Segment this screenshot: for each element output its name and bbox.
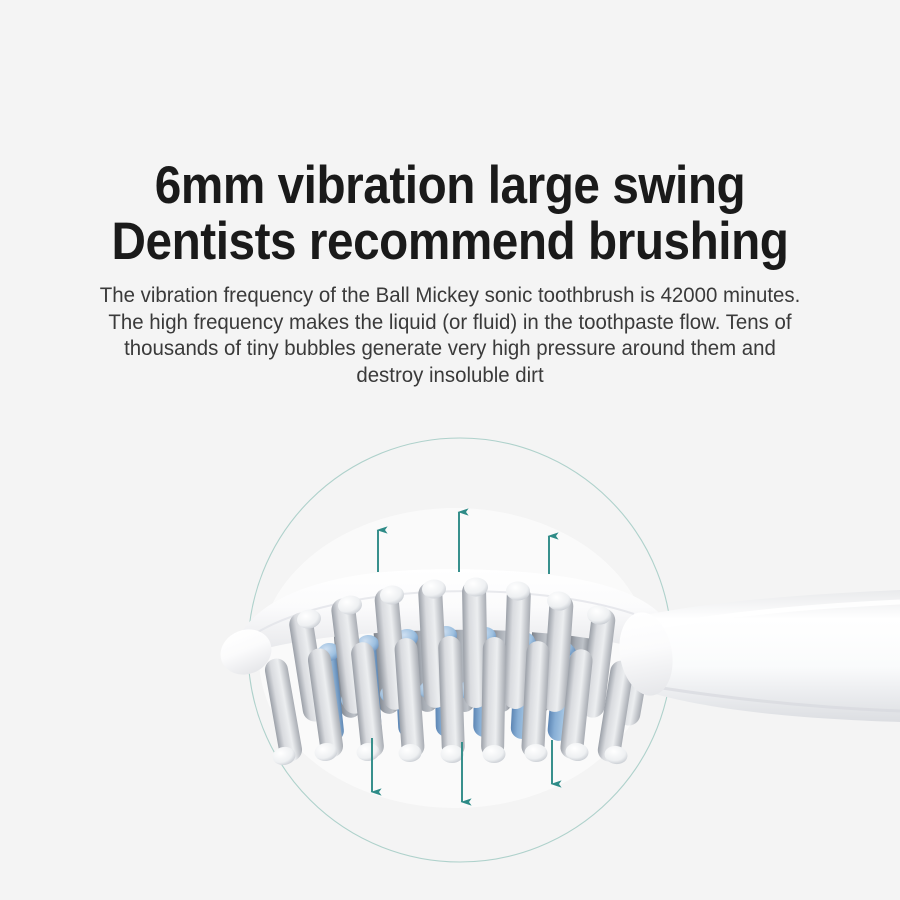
- description-line-3: thousands of tiny bubbles generate very …: [61, 335, 840, 362]
- headline-line-1: 6mm vibration large swing: [45, 158, 855, 214]
- toothbrush-vibration-diagram: [0, 400, 900, 900]
- description-line-4: destroy insoluble dirt: [61, 362, 840, 389]
- headline-line-2: Dentists recommend brushing: [45, 214, 855, 270]
- product-marketing-image: 6mm vibration large swing Dentists recom…: [0, 0, 900, 900]
- description-line-2: The high frequency makes the liquid (or …: [61, 309, 840, 336]
- bristle-row-front-lower: [263, 636, 635, 767]
- description-paragraph: The vibration frequency of the Ball Mick…: [61, 282, 840, 388]
- description-line-1: The vibration frequency of the Ball Mick…: [61, 282, 840, 309]
- page-title: 6mm vibration large swing Dentists recom…: [45, 158, 855, 270]
- toothbrush-neck: [613, 590, 900, 722]
